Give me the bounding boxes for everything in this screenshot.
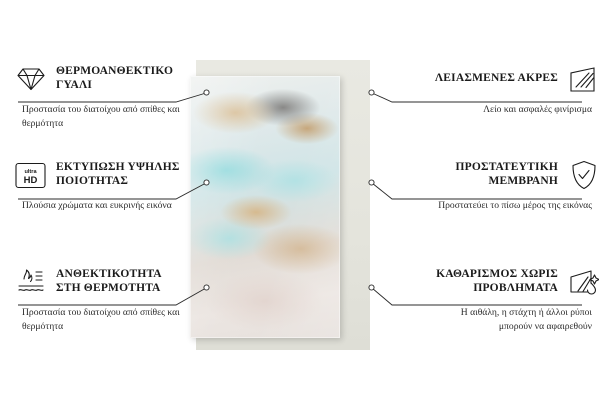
feature-title: ΘΕΡΜΟΑΝΘΕΚΤΙΚΟ ΓΥΑΛΙ <box>56 65 184 92</box>
feature-header: ΑΝΘΕΚΤΙΚΟΤΗΤΑ ΣΤΗ ΘΕΡΜΟΤΗΤΑ <box>14 265 184 299</box>
infographic-canvas: ΘΕΡΜΟΑΝΘΕΚΤΙΚΟ ΓΥΑΛΙ Προστασία του διατο… <box>0 0 600 400</box>
ultra-hd-bottom-label: HD <box>24 175 38 186</box>
feature-easy-cleaning: ΚΑΘΑΡΙΣΜΟΣ ΧΩΡΙΣ ΠΡΟΒΛΗΜΑΤΑ Η αιθάλη, η … <box>430 265 600 333</box>
feature-description: Προστασία του διατοίχου από σπίθες και θ… <box>14 103 184 130</box>
easy-cleaning-icon <box>567 266 600 299</box>
diamond-icon <box>14 63 47 96</box>
feature-description: Λείο και ασφαλές φινίρισμα <box>430 103 600 117</box>
feature-description: Η αιθάλη, η στάχτη ή άλλοι ρύποι μπορούν… <box>430 306 600 333</box>
feature-header: ΠΡΟΣΤΑΤΕΥΤΙΚΗ ΜΕΜΒΡΑΝΗ <box>430 158 600 192</box>
feature-description: Προστασία του διατοίχου από σπίθες και θ… <box>14 306 184 333</box>
feature-heat-resistant-glass: ΘΕΡΜΟΑΝΘΕΚΤΙΚΟ ΓΥΑΛΙ Προστασία του διατο… <box>14 62 184 130</box>
ultra-hd-icon: ultra HD <box>14 159 47 192</box>
feature-header: ΛΕΙΑΣΜΕΝΕΣ ΑΚΡΕΣ <box>430 62 600 96</box>
feature-description: Προστατεύει το πίσω μέρος της εικόνας <box>430 199 600 213</box>
feature-header: ultra HD ΕΚΤΥΠΩΣΗ ΥΨΗΛΗΣ ΠΟΙΟΤΗΤΑΣ <box>14 158 184 192</box>
feature-header: ΘΕΡΜΟΑΝΘΕΚΤΙΚΟ ΓΥΑΛΙ <box>14 62 184 96</box>
feature-title: ΚΑΘΑΡΙΣΜΟΣ ΧΩΡΙΣ ΠΡΟΒΛΗΜΑΤΑ <box>430 268 558 295</box>
feature-heat-durability: ΑΝΘΕΚΤΙΚΟΤΗΤΑ ΣΤΗ ΘΕΡΜΟΤΗΤΑ Προστασία το… <box>14 265 184 333</box>
feature-protective-film: ΠΡΟΣΤΑΤΕΥΤΙΚΗ ΜΕΜΒΡΑΝΗ Προστατεύει το πί… <box>430 158 600 213</box>
feature-title: ΛΕΙΑΣΜΕΝΕΣ ΑΚΡΕΣ <box>435 72 558 86</box>
feature-title: ΠΡΟΣΤΑΤΕΥΤΙΚΗ ΜΕΜΒΡΑΝΗ <box>430 161 558 188</box>
smooth-edges-icon <box>567 63 600 96</box>
glass-panel <box>190 76 340 338</box>
feature-description: Πλούσια χρώματα και ευκρινής εικόνα <box>14 199 184 213</box>
shield-icon <box>567 159 600 192</box>
product-image <box>190 60 370 350</box>
heat-resistance-icon <box>14 266 47 299</box>
glass-panel-edge <box>190 76 340 338</box>
feature-smooth-edges: ΛΕΙΑΣΜΕΝΕΣ ΑΚΡΕΣ Λείο και ασφαλές φινίρι… <box>430 62 600 117</box>
feature-title: ΕΚΤΥΠΩΣΗ ΥΨΗΛΗΣ ΠΟΙΟΤΗΤΑΣ <box>56 161 184 188</box>
feature-high-quality-print: ultra HD ΕΚΤΥΠΩΣΗ ΥΨΗΛΗΣ ΠΟΙΟΤΗΤΑΣ Πλούσ… <box>14 158 184 213</box>
feature-header: ΚΑΘΑΡΙΣΜΟΣ ΧΩΡΙΣ ΠΡΟΒΛΗΜΑΤΑ <box>430 265 600 299</box>
feature-title: ΑΝΘΕΚΤΙΚΟΤΗΤΑ ΣΤΗ ΘΕΡΜΟΤΗΤΑ <box>56 268 184 295</box>
